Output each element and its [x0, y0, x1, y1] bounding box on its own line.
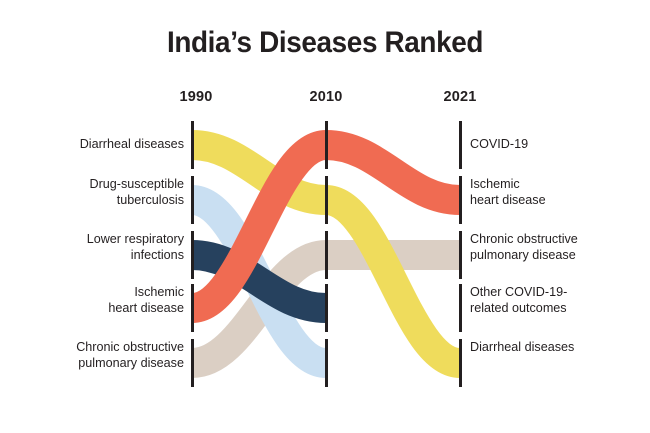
right-label-rank-5: Diarrheal diseases — [470, 340, 574, 356]
left-label-rank-1: Diarrheal diseases — [80, 137, 184, 153]
axis-tick-2021-rank-5 — [459, 339, 462, 387]
axis-tick-2010-rank-1 — [325, 121, 328, 169]
left-label-rank-3: Lower respiratory infections — [87, 232, 184, 263]
axis-tick-2010-rank-5 — [325, 339, 328, 387]
right-label-rank-2: Ischemic heart disease — [470, 177, 546, 208]
axis-tick-2021-rank-1 — [459, 121, 462, 169]
axis-tick-2010-rank-4 — [325, 284, 328, 332]
axis-tick-1990-rank-3 — [191, 231, 194, 279]
left-label-rank-2: Drug-susceptible tuberculosis — [90, 177, 185, 208]
axis-tick-1990-rank-5 — [191, 339, 194, 387]
right-label-rank-3: Chronic obstructive pulmonary disease — [470, 232, 578, 263]
axis-tick-2021-rank-4 — [459, 284, 462, 332]
bump-chart: India’s Diseases Ranked 1990 2010 2021 — [0, 0, 650, 433]
axis-tick-1990-rank-1 — [191, 121, 194, 169]
axis-tick-2010-rank-2 — [325, 176, 328, 224]
axis-tick-2010-rank-3 — [325, 231, 328, 279]
axis-tick-2021-rank-3 — [459, 231, 462, 279]
left-label-rank-4: Ischemic heart disease — [108, 285, 184, 316]
axis-tick-2021-rank-2 — [459, 176, 462, 224]
right-label-rank-1: COVID-19 — [470, 137, 528, 153]
axis-tick-1990-rank-4 — [191, 284, 194, 332]
right-label-rank-4: Other COVID-19- related outcomes — [470, 285, 567, 316]
axis-tick-1990-rank-2 — [191, 176, 194, 224]
left-label-rank-5: Chronic obstructive pulmonary disease — [76, 340, 184, 371]
